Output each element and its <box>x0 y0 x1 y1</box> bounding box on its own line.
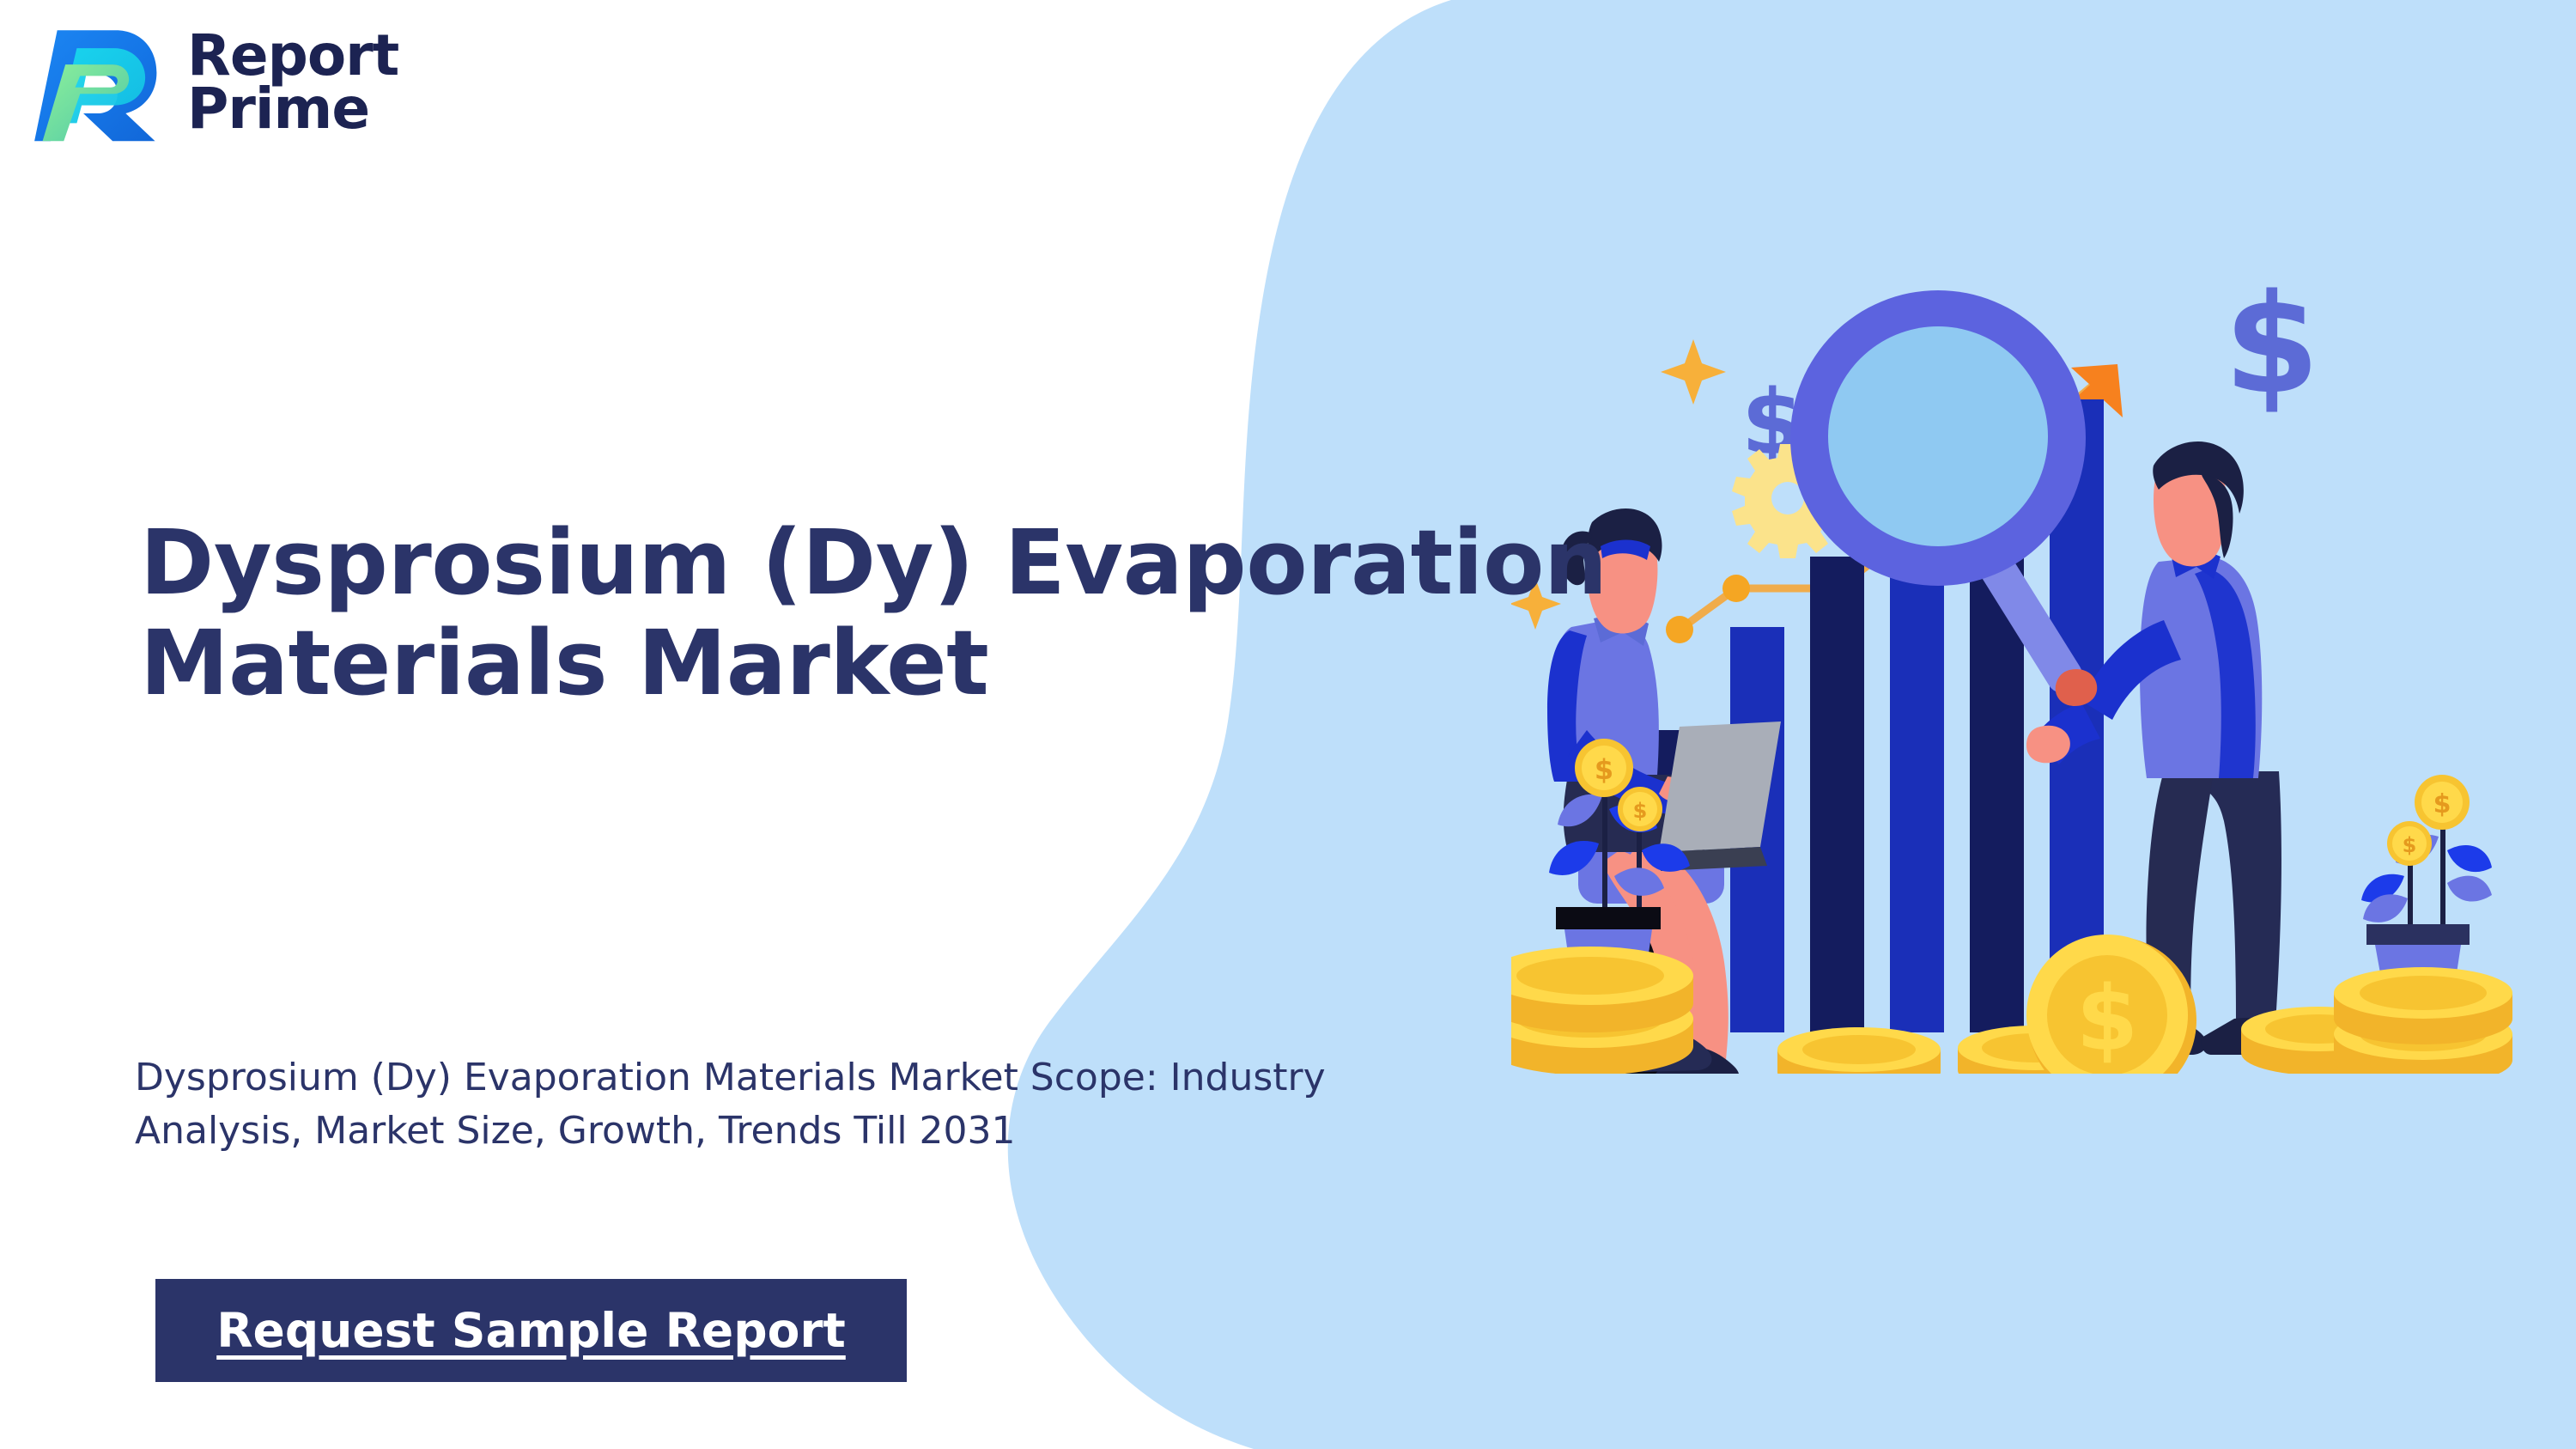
brand-logo[interactable]: Report Prime <box>34 19 398 146</box>
svg-text:$: $ <box>1633 799 1648 823</box>
banner-root: Report Prime Dysprosium (Dy) Evaporation… <box>0 0 2576 1449</box>
sparkle-icon <box>1661 339 1726 405</box>
svg-text:$: $ <box>2403 833 2417 857</box>
request-sample-report-button[interactable]: Request Sample Report <box>155 1279 907 1382</box>
page-title: Dysprosium (Dy) Evaporation Materials Ma… <box>140 513 1651 715</box>
brand-wordmark: Report Prime <box>187 29 398 136</box>
plant-leaf <box>2447 876 2492 902</box>
market-research-illustration: $ $ <box>1511 249 2576 1074</box>
page-subtitle: Dysprosium (Dy) Evaporation Materials Ma… <box>135 1051 1474 1159</box>
request-sample-report-label: Request Sample Report <box>216 1303 846 1358</box>
svg-text:$: $ <box>2076 966 2138 1071</box>
svg-text:$: $ <box>2433 789 2451 819</box>
bar <box>1810 557 1864 1032</box>
laptop-screen <box>1659 721 1781 852</box>
svg-text:$: $ <box>2224 264 2319 424</box>
report-prime-r-logo-icon <box>34 19 165 146</box>
brand-name-line1: Report <box>187 29 398 82</box>
coin-stack-left <box>1511 947 1693 1074</box>
coin-stack-center-small <box>1777 1027 1941 1074</box>
pot-rim <box>2366 924 2470 945</box>
svg-text:$: $ <box>1595 753 1613 786</box>
dollar-sign-large-icon: $ <box>2224 264 2319 424</box>
hand <box>2056 669 2097 706</box>
pot-rim <box>1556 907 1661 929</box>
hand <box>2026 726 2070 764</box>
coin-stack-far-right <box>2334 967 2512 1074</box>
plant-leaf <box>2447 845 2492 872</box>
brand-name-line2: Prime <box>187 82 398 136</box>
